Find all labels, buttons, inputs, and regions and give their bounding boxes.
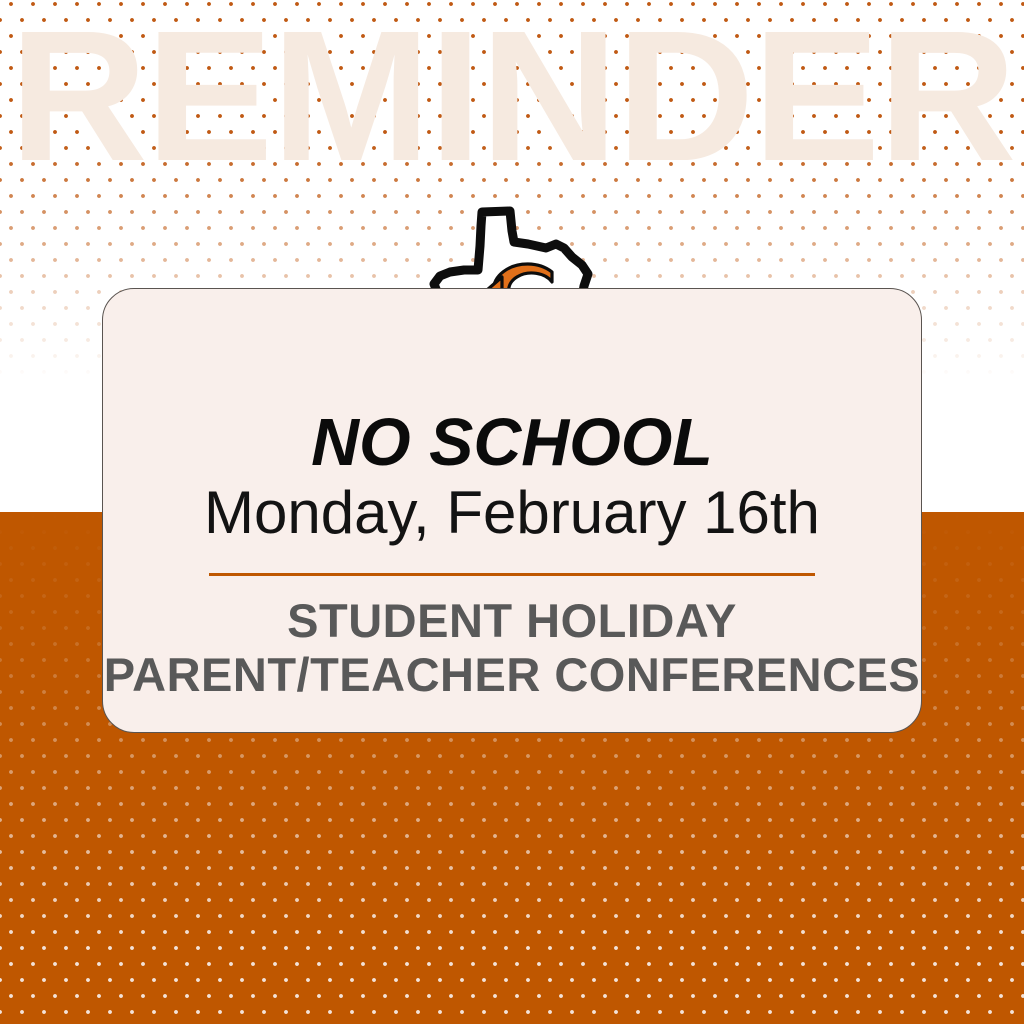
headline-no-school: NO SCHOOL [107,409,917,477]
detail-line-student-holiday: STUDENT HOLIDAY [103,594,921,648]
watermark-reminder: REMINDER [0,2,1024,192]
detail-line-parent-teacher-conferences: PARENT/TEACHER CONFERENCES [103,648,921,702]
card-content: NO SCHOOL Monday, February 16th STUDENT … [103,409,921,702]
detail-lines: STUDENT HOLIDAY PARENT/TEACHER CONFERENC… [103,594,921,702]
subhead-date: Monday, February 16th [103,481,921,545]
announcement-card: NO SCHOOL Monday, February 16th STUDENT … [102,288,922,733]
reminder-poster: REMINDER NO SCHOOL Monday, February 16th… [0,0,1024,1024]
orange-divider [209,573,815,576]
